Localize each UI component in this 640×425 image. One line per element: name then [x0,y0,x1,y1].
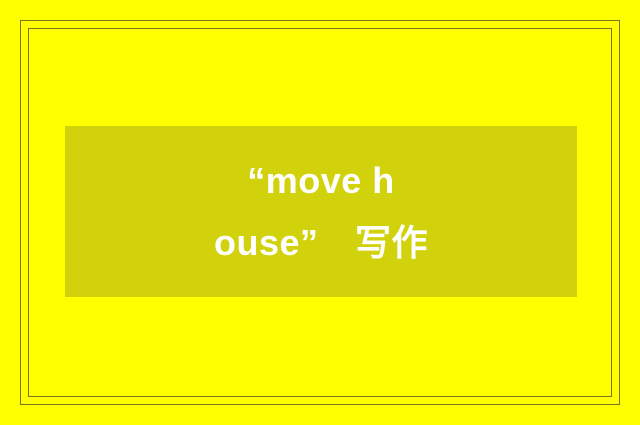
slide-canvas: “move h ouse” 写作 [0,0,640,425]
title-line-2: ouse” 写作 [214,212,428,274]
title-plate: “move h ouse” 写作 [65,126,577,297]
title-line-1: “move h [247,150,395,212]
